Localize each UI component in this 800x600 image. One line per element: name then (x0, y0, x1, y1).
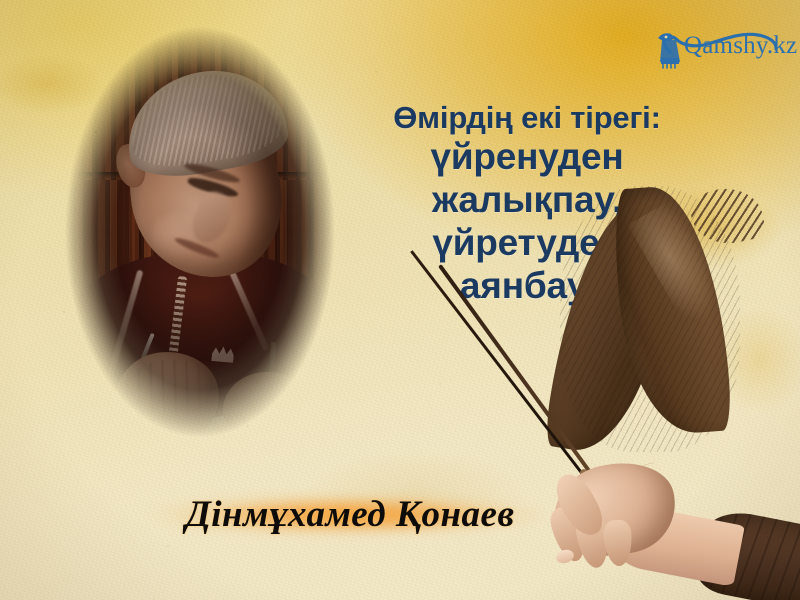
portrait-oval (55, 16, 345, 448)
author-name: Дінмұхамед Қонаев (120, 488, 580, 542)
site-logo[interactable]: Qamshy.kz (650, 18, 782, 72)
author-name-block: Дінмұхамед Қонаев (120, 488, 580, 542)
portrait-oval-mask (55, 16, 345, 448)
hand-holding-quill-icon (556, 452, 800, 600)
quote-line-1: Өмірдің екі тірегі: (352, 100, 702, 136)
quote-line-2: үйренуден (352, 136, 702, 179)
poster-canvas: Өмірдің екі тірегі: үйренуден жалықпау, … (0, 0, 800, 600)
logo-text: Qamshy.kz (684, 32, 797, 60)
portrait-sepia-tone (55, 16, 345, 448)
